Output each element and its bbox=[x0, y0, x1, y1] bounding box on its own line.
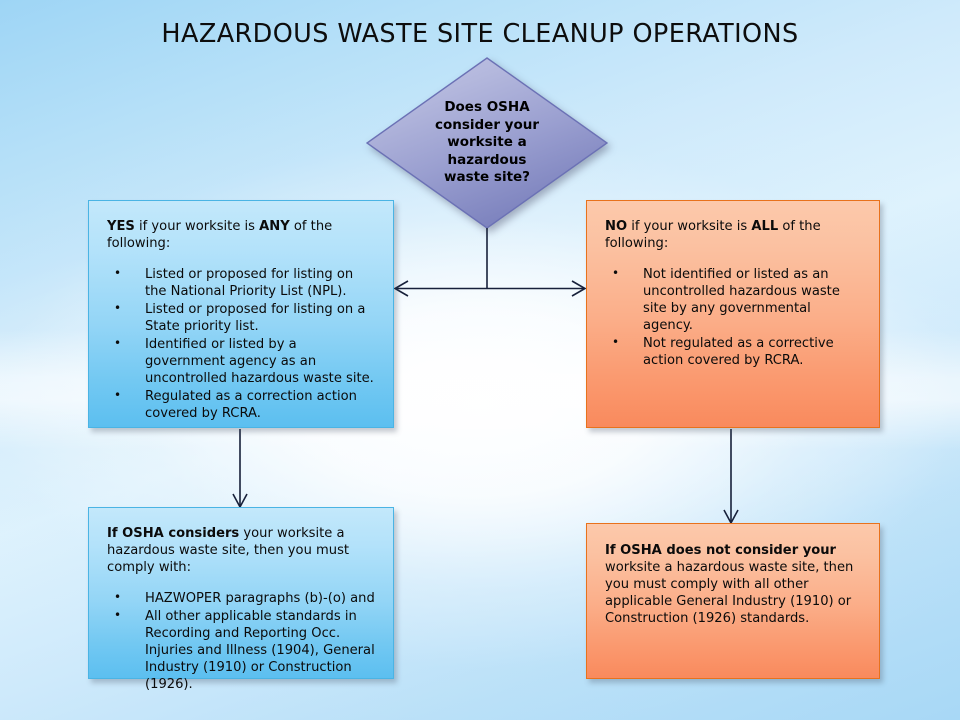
any-label: ANY bbox=[259, 219, 290, 234]
list-item: HAZWOPER paragraphs (b)-(o) and bbox=[107, 590, 377, 607]
no-branch-lead: NO if your worksite is ALL of the follow… bbox=[605, 218, 863, 252]
yes-lead-mid: if your worksite is bbox=[135, 219, 259, 234]
list-item: Listed or proposed for listing on the Na… bbox=[107, 266, 377, 300]
no-label: NO bbox=[605, 219, 627, 234]
no-branch-content: NO if your worksite is ALL of the follow… bbox=[587, 201, 879, 380]
yes-branch-lead: YES if your worksite is ANY of the follo… bbox=[107, 218, 377, 252]
list-item: Not regulated as a corrective action cov… bbox=[605, 335, 863, 369]
yes-outcome-emph: If OSHA considers bbox=[107, 526, 239, 541]
yes-branch-content: YES if your worksite is ANY of the follo… bbox=[89, 201, 393, 433]
list-item: Listed or proposed for listing on a Stat… bbox=[107, 301, 377, 335]
list-item: Regulated as a correction action covered… bbox=[107, 388, 377, 422]
yes-outcome-bullets: HAZWOPER paragraphs (b)-(o) and All othe… bbox=[107, 590, 377, 693]
slide-canvas: HAZARDOUS WASTE SITE CLEANUP OPERATIONS … bbox=[0, 0, 960, 720]
all-label: ALL bbox=[751, 219, 778, 234]
yes-outcome-box[interactable]: If OSHA considers your worksite a hazard… bbox=[88, 507, 394, 679]
no-branch-bullets: Not identified or listed as an uncontrol… bbox=[605, 266, 863, 369]
yes-outcome-lead: If OSHA considers your worksite a hazard… bbox=[107, 525, 377, 576]
list-item: Identified or listed by a government age… bbox=[107, 336, 377, 387]
no-outcome-lead: If OSHA does not consider your worksite … bbox=[605, 542, 863, 627]
arrowhead-down-yes-outcome bbox=[233, 494, 247, 507]
no-outcome-emph: If OSHA does not consider your bbox=[605, 543, 836, 558]
list-item: Not identified or listed as an uncontrol… bbox=[605, 266, 863, 334]
yes-branch-bullets: Listed or proposed for listing on the Na… bbox=[107, 266, 377, 422]
osha-decision-diamond[interactable]: Does OSHA consider your worksite a hazar… bbox=[366, 57, 608, 229]
yes-branch-box[interactable]: YES if your worksite is ANY of the follo… bbox=[88, 200, 394, 428]
no-branch-box[interactable]: NO if your worksite is ALL of the follow… bbox=[586, 200, 880, 428]
no-outcome-rest: worksite a hazardous waste site, then yo… bbox=[605, 560, 853, 626]
diamond-shape bbox=[366, 57, 608, 229]
arrowhead-left-yes bbox=[395, 281, 408, 296]
yes-label: YES bbox=[107, 219, 135, 234]
page-title: HAZARDOUS WASTE SITE CLEANUP OPERATIONS bbox=[0, 19, 960, 49]
list-item: All other applicable standards in Record… bbox=[107, 608, 377, 693]
no-outcome-box[interactable]: If OSHA does not consider your worksite … bbox=[586, 523, 880, 679]
arrowhead-down-no-outcome bbox=[724, 510, 738, 523]
no-lead-mid: if your worksite is bbox=[627, 219, 751, 234]
arrowhead-right-no bbox=[572, 281, 585, 296]
no-outcome-content: If OSHA does not consider your worksite … bbox=[587, 524, 879, 637]
yes-outcome-content: If OSHA considers your worksite a hazard… bbox=[89, 508, 393, 704]
